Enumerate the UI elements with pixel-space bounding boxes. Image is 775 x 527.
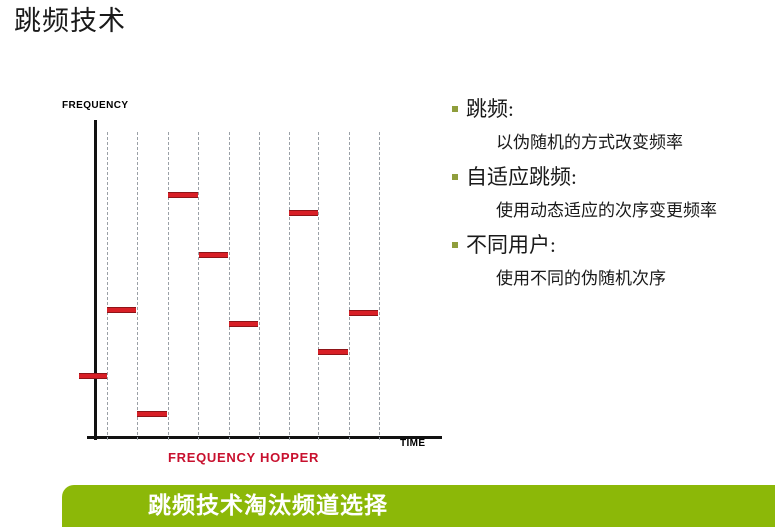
- hop-bar-slot-9: [318, 349, 348, 355]
- page-title: 跳频技术: [14, 4, 126, 38]
- bullet-heading-row: 自适应跳频:: [452, 162, 772, 192]
- y-axis-label: FREQUENCY: [62, 100, 128, 111]
- gridline-5: [229, 132, 230, 440]
- gridline-8: [318, 132, 319, 440]
- gridline-1: [107, 132, 108, 440]
- frequency-hopper-chart: FREQUENCY TIME FREQUENCY HOPPER: [55, 95, 435, 475]
- x-axis-label: TIME: [400, 438, 426, 449]
- bullet-item-3: 不同用户:使用不同的伪随机次序: [452, 230, 772, 292]
- hop-bar-slot-2: [107, 307, 136, 313]
- chart-plot-area: [72, 112, 442, 422]
- bullet-detail: 以伪随机的方式改变频率: [496, 130, 772, 156]
- bullet-detail: 使用不同的伪随机次序: [496, 266, 772, 292]
- bullet-item-2: 自适应跳频:使用动态适应的次序变更频率: [452, 162, 772, 224]
- x-axis-line: [87, 436, 442, 439]
- square-bullet-icon: [452, 174, 458, 180]
- hop-bar-slot-1: [79, 373, 107, 379]
- gridline-10: [379, 132, 380, 440]
- bullet-heading-row: 跳频:: [452, 94, 772, 124]
- chart-caption: FREQUENCY HOPPER: [168, 450, 319, 465]
- hop-bar-slot-6: [229, 321, 258, 327]
- square-bullet-icon: [452, 106, 458, 112]
- gridline-6: [259, 132, 260, 440]
- bottom-banner: 跳频技术淘汰频道选择: [62, 485, 775, 527]
- hop-bar-slot-8: [289, 210, 318, 216]
- gridline-7: [289, 132, 290, 440]
- bullet-detail: 使用动态适应的次序变更频率: [496, 198, 772, 224]
- bullet-list: 跳频:以伪随机的方式改变频率自适应跳频:使用动态适应的次序变更频率不同用户:使用…: [452, 94, 772, 298]
- gridline-2: [137, 132, 138, 440]
- bullet-heading: 自适应跳频:: [466, 162, 577, 192]
- bullet-item-1: 跳频:以伪随机的方式改变频率: [452, 94, 772, 156]
- y-axis-line: [94, 120, 97, 440]
- square-bullet-icon: [452, 242, 458, 248]
- gridline-4: [198, 132, 199, 440]
- gridline-9: [349, 132, 350, 440]
- hop-bar-slot-3: [137, 411, 167, 417]
- banner-title: 跳频技术淘汰频道选择: [148, 491, 388, 521]
- gridline-3: [168, 132, 169, 440]
- bullet-heading: 不同用户:: [466, 230, 556, 260]
- bullet-heading-row: 不同用户:: [452, 230, 772, 260]
- bullet-heading: 跳频:: [466, 94, 514, 124]
- hop-bar-slot-10: [349, 310, 378, 316]
- hop-bar-slot-5: [199, 252, 228, 258]
- hop-bar-slot-4: [168, 192, 198, 198]
